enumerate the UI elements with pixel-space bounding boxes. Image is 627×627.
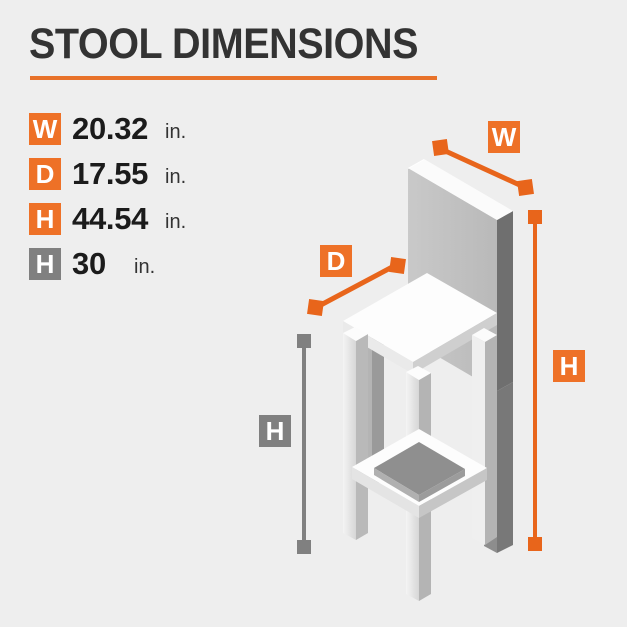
measure-badge-h-overall: H [553,350,585,382]
measure-line-h-seat [297,334,311,554]
measure-badge-d: D [320,245,352,277]
dimensions-infographic: STOOL DIMENSIONS W 20.32 in. D 17.55 in.… [0,0,627,627]
stool-leg-front-right [472,328,497,545]
stool-leg-front-left [343,327,368,540]
measure-badge-h-seat: H [259,415,291,447]
stool-illustration [0,0,627,627]
measure-line-h-overall [528,210,542,551]
measure-badge-w: W [488,121,520,153]
